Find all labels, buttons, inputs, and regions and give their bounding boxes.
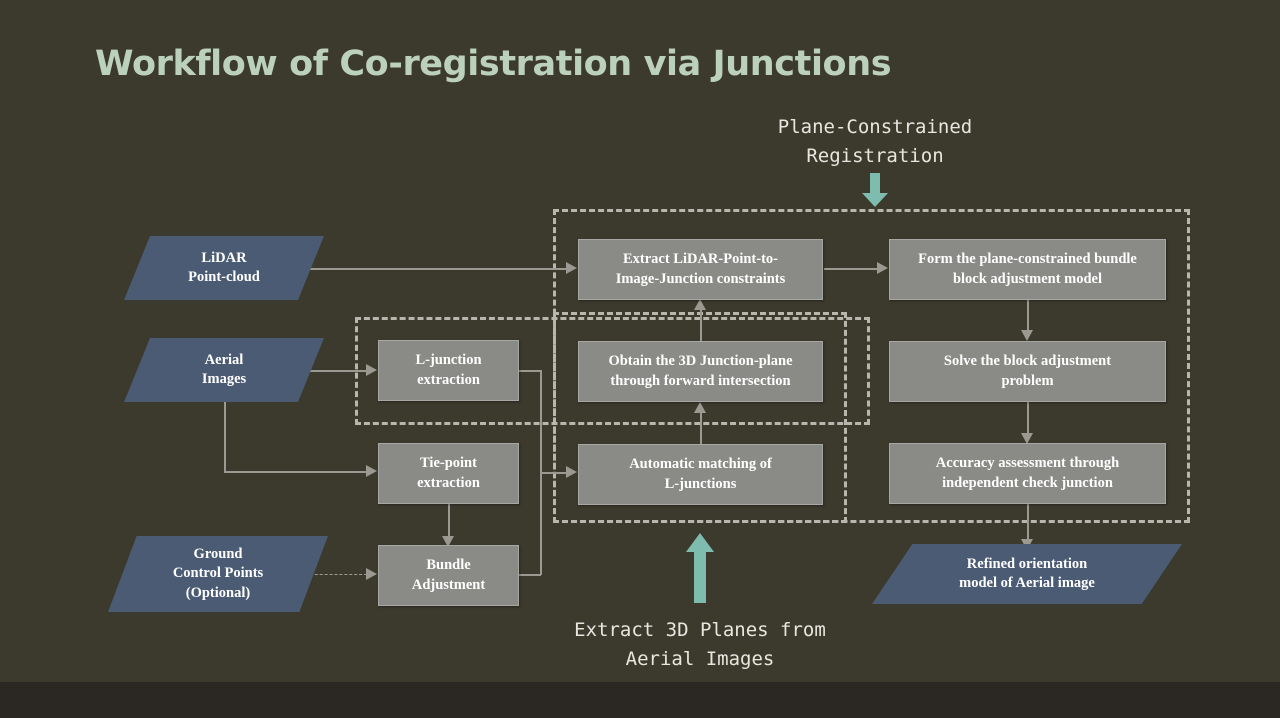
connector-ljunction-to-matching <box>540 472 566 474</box>
input-gcp-label: Ground Control Points (Optional) <box>173 545 263 602</box>
process-extract-lidar-constraints-label: Extract LiDAR-Point-to- Image-Junction c… <box>616 250 786 288</box>
connector-ljunction-down <box>540 370 542 473</box>
connector-aerial-to-tiepoint <box>224 471 366 473</box>
arrowhead-obtain-to-extract <box>694 299 706 310</box>
process-automatic-matching[interactable]: Automatic matching of L-junctions <box>578 444 823 505</box>
process-tie-point-extraction[interactable]: Tie-point extraction <box>378 443 519 504</box>
input-aerial-label: Aerial Images <box>202 351 246 389</box>
connector-form-to-solve <box>1027 299 1029 331</box>
connector-lidar-to-extract <box>300 268 566 270</box>
process-accuracy-assessment[interactable]: Accuracy assessment through independent … <box>889 443 1166 504</box>
arrowhead-aerial-to-tiepoint <box>366 465 377 477</box>
connector-ljunction-right <box>519 370 541 372</box>
arrowhead-aerial-to-ljunction <box>366 364 377 376</box>
connector-bundle-right <box>519 574 541 576</box>
process-l-junction-extraction[interactable]: L-junction extraction <box>378 340 519 401</box>
input-lidar-point-cloud[interactable]: LiDAR Point-cloud <box>124 236 324 300</box>
process-extract-lidar-constraints[interactable]: Extract LiDAR-Point-to- Image-Junction c… <box>578 239 823 300</box>
process-automatic-matching-label: Automatic matching of L-junctions <box>629 455 772 493</box>
connector-accuracy-to-refined <box>1027 503 1029 540</box>
arrow-down-icon <box>857 173 893 209</box>
arrowhead-lidar-to-extract <box>566 262 577 274</box>
process-obtain-3d-junction-plane[interactable]: Obtain the 3D Junction-plane through for… <box>578 341 823 402</box>
connector-extract-to-form <box>824 268 878 270</box>
workflow-diagram: Workflow of Co-registration via Junction… <box>0 0 1280 718</box>
input-aerial-images[interactable]: Aerial Images <box>124 338 324 402</box>
connector-obtain-to-extract <box>700 310 702 342</box>
connector-matching-to-obtain <box>700 413 702 446</box>
connector-bundle-up <box>540 472 542 575</box>
arrowhead-matching-to-obtain <box>694 402 706 413</box>
arrowhead-gcp-to-bundle <box>366 568 377 580</box>
annotation-extract-3d-planes: Extract 3D Planes from Aerial Images <box>540 616 860 673</box>
connector-aerial-down <box>224 402 226 472</box>
bottom-strip <box>0 682 1280 718</box>
output-refined-orientation[interactable]: Refined orientation model of Aerial imag… <box>872 544 1182 604</box>
input-lidar-label: LiDAR Point-cloud <box>188 249 260 287</box>
process-form-bundle-model-label: Form the plane-constrained bundle block … <box>918 250 1137 288</box>
input-ground-control-points[interactable]: Ground Control Points (Optional) <box>108 536 328 612</box>
page-title: Workflow of Co-registration via Junction… <box>95 44 891 84</box>
process-accuracy-assessment-label: Accuracy assessment through independent … <box>936 454 1119 492</box>
annotation-plane-constrained-registration: Plane-Constrained Registration <box>735 113 1015 170</box>
process-bundle-adjustment[interactable]: Bundle Adjustment <box>378 545 519 606</box>
process-solve-block-adjustment-label: Solve the block adjustment problem <box>944 352 1111 390</box>
connector-solve-to-accuracy <box>1027 402 1029 434</box>
connector-tiepoint-to-bundle <box>448 503 450 537</box>
arrowhead-form-to-solve <box>1021 330 1033 341</box>
process-tie-point-extraction-label: Tie-point extraction <box>417 454 480 492</box>
process-form-bundle-model[interactable]: Form the plane-constrained bundle block … <box>889 239 1166 300</box>
process-solve-block-adjustment[interactable]: Solve the block adjustment problem <box>889 341 1166 402</box>
arrow-up-icon <box>682 533 718 605</box>
process-bundle-adjustment-label: Bundle Adjustment <box>412 556 485 594</box>
process-obtain-3d-junction-plane-label: Obtain the 3D Junction-plane through for… <box>608 352 792 390</box>
arrowhead-ljunction-to-matching <box>566 466 577 478</box>
arrowhead-extract-to-form <box>877 262 888 274</box>
process-l-junction-extraction-label: L-junction extraction <box>415 351 481 389</box>
output-refined-label: Refined orientation model of Aerial imag… <box>959 555 1095 593</box>
connector-gcp-to-bundle <box>305 574 367 575</box>
